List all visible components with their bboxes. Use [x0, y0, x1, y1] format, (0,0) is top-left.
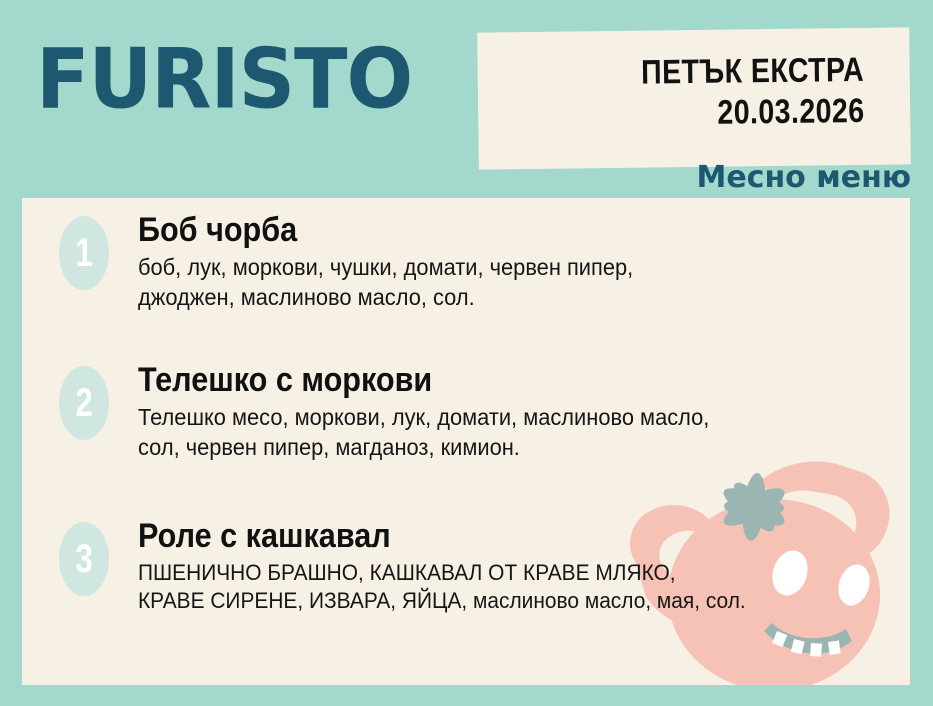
menu-item-title: Телешко с моркови [138, 362, 815, 399]
brand-logo: FURISTO [36, 38, 412, 121]
menu-item-description: Телешко месо, моркови, лук, домати, масл… [138, 403, 852, 463]
menu-item-text: Боб чорба боб, лук, моркови, чушки, дома… [138, 212, 890, 313]
menu-item-list: 1 Боб чорба боб, лук, моркови, чушки, до… [22, 198, 910, 685]
menu-item-text: Роле с кашкавал ПШЕНИЧНО БРАШНО, КАШКАВА… [138, 518, 890, 616]
menu-card: 1 Боб чорба боб, лук, моркови, чушки, до… [22, 198, 910, 685]
day-label: ПЕТЪК ЕКСТРА [641, 50, 864, 94]
menu-item-text: Телешко с моркови Телешко месо, моркови,… [138, 362, 890, 463]
menu-item-title: Роле с кашкавал [138, 518, 815, 555]
menu-item[interactable]: 2 Телешко с моркови Телешко месо, морков… [52, 362, 890, 463]
menu-item[interactable]: 3 Роле с кашкавал ПШЕНИЧНО БРАШНО, КАШКА… [52, 518, 890, 616]
menu-item-title: Боб чорба [138, 212, 815, 249]
section-label: Месно меню [696, 160, 911, 195]
menu-item[interactable]: 1 Боб чорба боб, лук, моркови, чушки, до… [52, 212, 890, 313]
date-banner: ПЕТЪК ЕКСТРА 20.03.2026 [477, 27, 911, 169]
date-value: 20.03.2026 [641, 91, 864, 135]
menu-item-description: боб, лук, моркови, чушки, домати, червен… [138, 253, 852, 313]
page-header: FURISTO ПЕТЪК ЕКСТРА 20.03.2026 Месно ме… [0, 0, 933, 198]
menu-item-number-badge: 3 [59, 522, 109, 596]
date-banner-text: ПЕТЪК ЕКСТРА 20.03.2026 [641, 50, 865, 136]
menu-item-number-badge: 2 [59, 366, 109, 440]
menu-item-description: ПШЕНИЧНО БРАШНО, КАШКАВАЛ ОТ КРАВЕ МЛЯКО… [138, 559, 852, 616]
menu-item-number-badge: 1 [59, 216, 109, 290]
